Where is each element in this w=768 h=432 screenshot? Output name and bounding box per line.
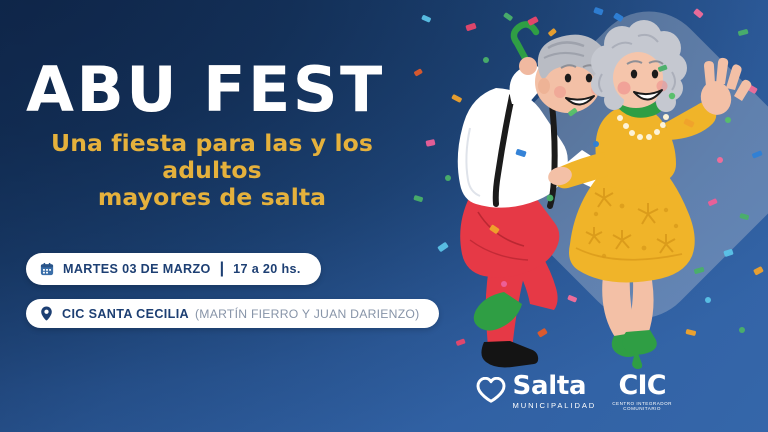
logo-group: Salta MUNICIPALIDAD CIC CENTRO INTEGRADO… <box>476 374 672 412</box>
location-badge-label: CIC SANTA CECILIA <box>62 307 189 321</box>
salta-wordmark: Salta <box>513 371 587 401</box>
date-badge[interactable]: MARTES 03 DE MARZO | 17 a 20 hs. <box>26 253 321 285</box>
dancing-elderly-couple-illustration <box>408 0 768 432</box>
subtitle-line-1: Una fiesta para las y los adultos <box>51 129 373 184</box>
cic-subtitle-line-2: COMUNITARIO <box>623 406 661 411</box>
cic-subtitle-line-1: CENTRO INTEGRADOR <box>612 401 672 406</box>
cic-wordmark: CIC <box>618 374 665 398</box>
poster-content: ABU FEST Una fiesta para las y los adult… <box>26 60 446 328</box>
map-pin-icon <box>40 306 53 321</box>
page-title: ABU FEST <box>26 60 446 120</box>
date-badge-time: 17 a 20 hs. <box>233 262 301 276</box>
subtitle-line-2: mayores de salta <box>98 183 326 211</box>
cic-logo: CIC CENTRO INTEGRADOR COMUNITARIO <box>612 374 672 412</box>
calendar-icon <box>40 262 54 276</box>
location-badge[interactable]: CIC SANTA CECILIA (MARTÍN FIERRO Y JUAN … <box>26 299 439 328</box>
poster-subtitle: Una fiesta para las y los adultos mayore… <box>26 130 398 212</box>
salta-municipalidad-logo: Salta MUNICIPALIDAD <box>476 374 597 410</box>
salta-logo-text: Salta MUNICIPALIDAD <box>513 374 597 410</box>
cic-subtitle: CENTRO INTEGRADOR COMUNITARIO <box>612 401 672 412</box>
info-badges: MARTES 03 DE MARZO | 17 a 20 hs. CIC SAN… <box>26 253 446 328</box>
date-badge-separator: | <box>211 260 233 278</box>
date-badge-label: MARTES 03 DE MARZO <box>63 262 211 276</box>
location-badge-detail: (MARTÍN FIERRO Y JUAN DARIENZO) <box>195 307 419 321</box>
event-poster: ABU FEST Una fiesta para las y los adult… <box>0 0 768 432</box>
salta-subtitle: MUNICIPALIDAD <box>513 401 597 410</box>
heart-icon <box>476 377 506 408</box>
